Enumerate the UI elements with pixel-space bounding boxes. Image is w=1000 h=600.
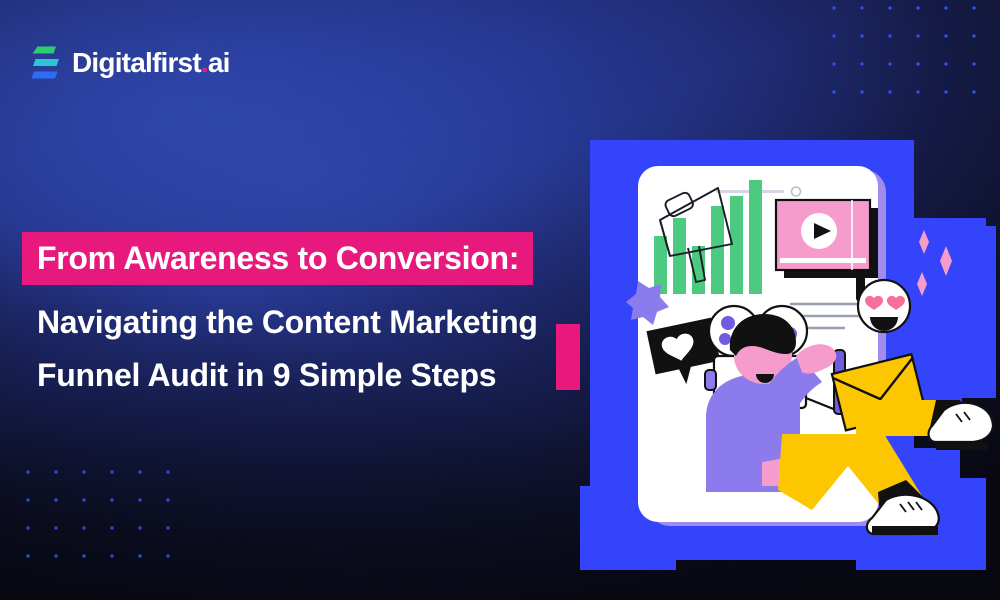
page-title: From Awareness to Conversion: Navigating…	[37, 232, 637, 391]
pink-accent-square	[556, 324, 580, 390]
headline-line-1-wrap: From Awareness to Conversion:	[37, 232, 637, 285]
video-player-card	[776, 200, 878, 278]
brand-name-text: Digitalfirst	[72, 47, 201, 78]
headline-line-2: Navigating the Content Marketing	[37, 306, 637, 338]
brand-logo[interactable]: Digitalfirst.ai	[31, 44, 230, 82]
brand-suffix: ai	[208, 47, 230, 78]
blog-banner: Digitalfirst.ai From Awareness to Conver…	[0, 0, 1000, 600]
brand-name: Digitalfirst.ai	[72, 49, 230, 77]
brand-dot: .	[201, 47, 208, 78]
dot-grid-bottom-left	[14, 458, 186, 578]
smiley-heart-eyes	[858, 280, 910, 332]
content-marketing-illustration	[556, 118, 1000, 586]
shoe-upper	[928, 400, 993, 450]
headline-line-3: Funnel Audit in 9 Simple Steps	[37, 359, 637, 391]
headline-line-1: From Awareness to Conversion:	[22, 232, 533, 285]
digitalfirst-stripes-logo-icon	[31, 44, 61, 82]
backdrop-shape-right	[908, 218, 996, 418]
dot-grid-top-right	[820, 0, 1000, 112]
